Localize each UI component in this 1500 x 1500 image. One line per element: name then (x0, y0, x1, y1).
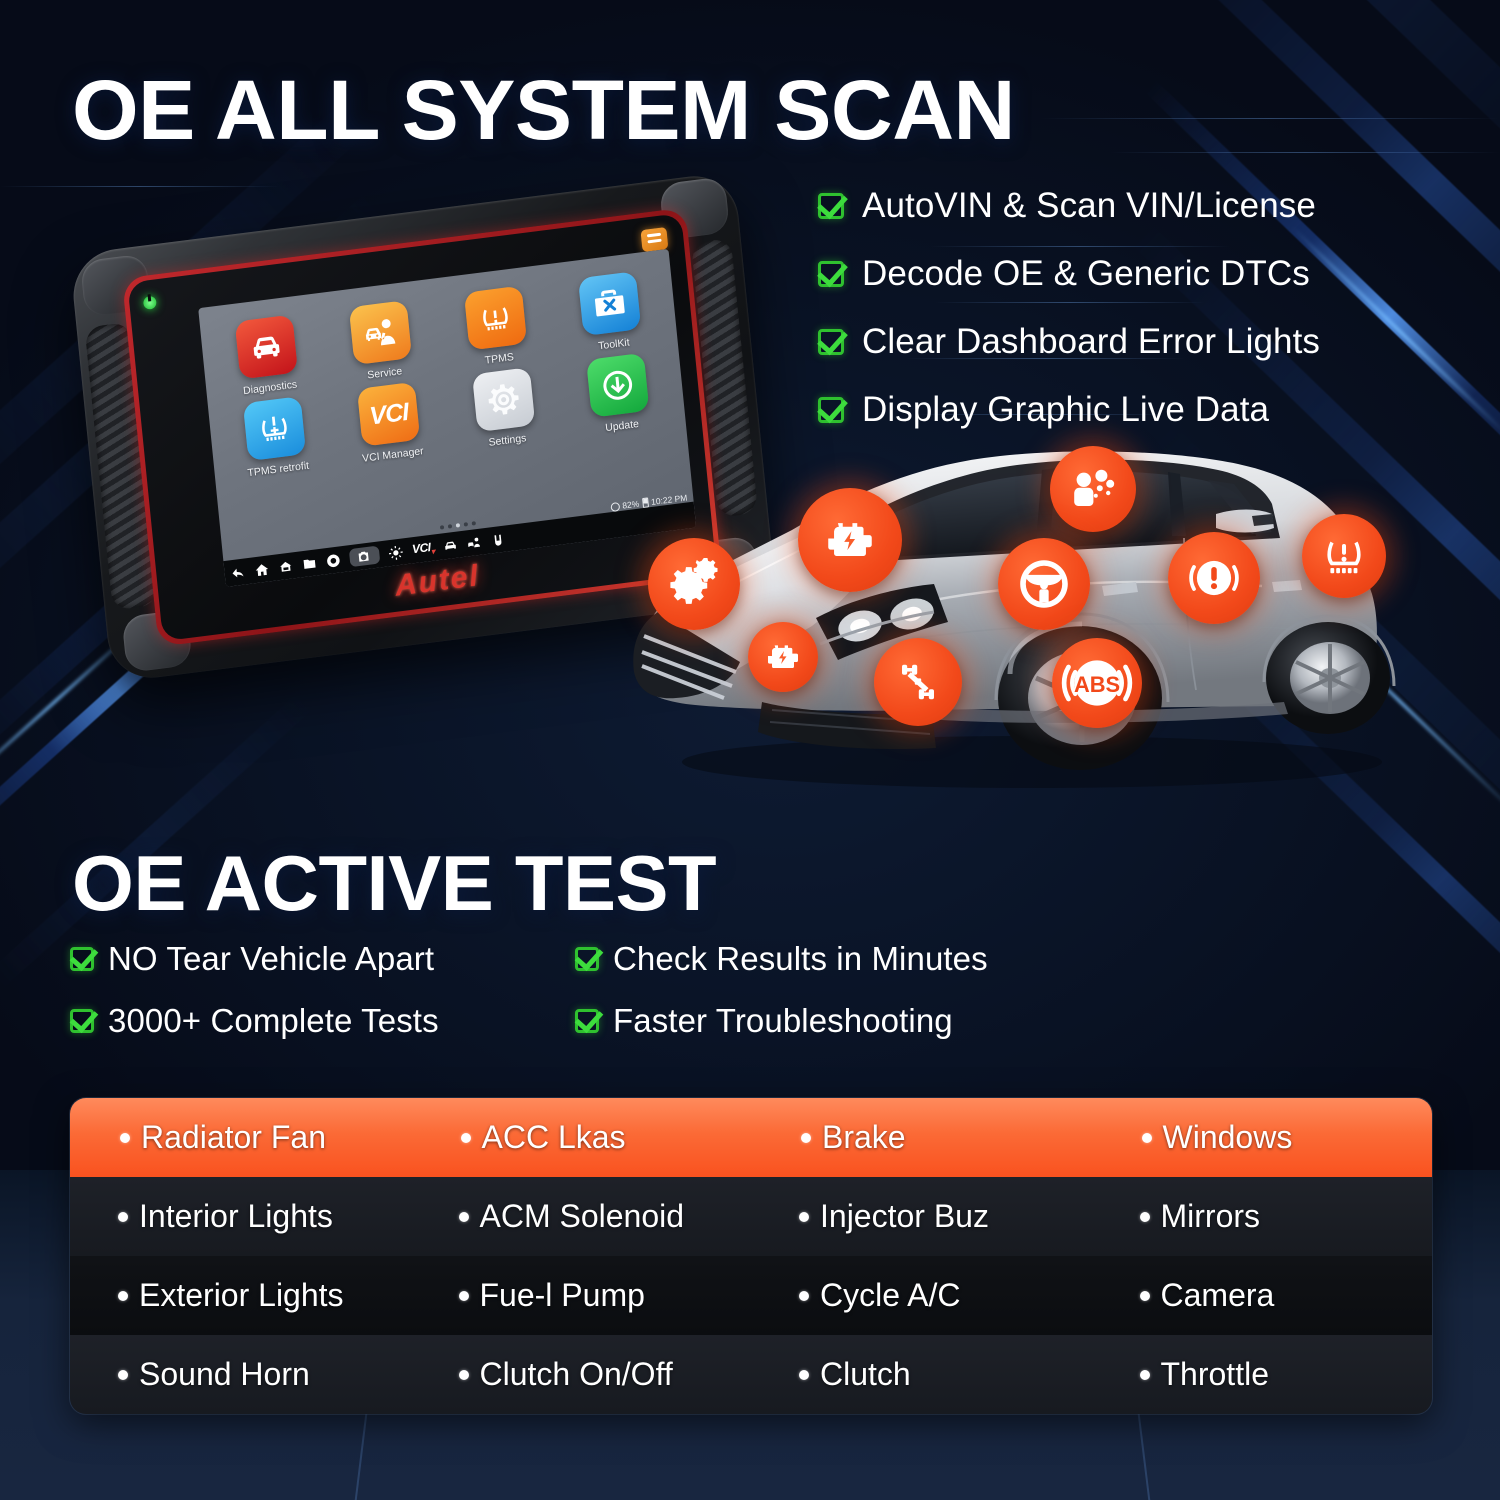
check-icon (70, 947, 94, 971)
tpms-warning-icon[interactable] (1302, 514, 1386, 598)
app-label: Diagnostics (243, 378, 298, 397)
bullet-icon (1142, 1133, 1152, 1143)
table-cell[interactable]: Brake (751, 1119, 1092, 1156)
brightness-icon[interactable] (388, 544, 404, 561)
table-cell[interactable]: Clutch (751, 1356, 1092, 1393)
table-cell[interactable]: Fue-l Pump (411, 1277, 752, 1314)
table-cell-label: ACC Lkas (482, 1119, 626, 1156)
table-cell[interactable]: Sound Horn (70, 1356, 411, 1393)
table-row: Exterior Lights Fue-l Pump Cycle A/C Cam… (70, 1256, 1432, 1335)
svg-text:ABS: ABS (1074, 672, 1120, 697)
engine-check-icon[interactable] (798, 488, 902, 592)
table-cell-label: Sound Horn (139, 1356, 310, 1393)
table-cell[interactable]: Throttle (1092, 1356, 1433, 1393)
table-row: Sound Horn Clutch On/Off Clutch Throttle (70, 1335, 1432, 1414)
page-dot (448, 524, 452, 528)
app-diagnostics[interactable]: Diagnostics (206, 311, 328, 401)
feature-label: Decode OE & Generic DTCs (862, 254, 1310, 294)
tpms-plus-icon (243, 396, 306, 461)
bullet-icon (459, 1291, 469, 1301)
table-cell-label: Windows (1163, 1119, 1293, 1156)
autel-brand-logo: Autel (394, 559, 482, 603)
bullet-icon (118, 1370, 128, 1380)
transmission-gears-icon[interactable] (648, 538, 740, 630)
app-label: TPMS (484, 351, 514, 367)
airbag-srs-icon[interactable] (1050, 446, 1136, 532)
table-cell[interactable]: ACC Lkas (411, 1119, 752, 1156)
table-cell[interactable]: ACM Solenoid (411, 1198, 752, 1235)
feature-item: Faster Troubleshooting (575, 1002, 988, 1040)
vehicle-diagram: ABS (612, 410, 1402, 810)
toolbox-icon (578, 271, 641, 336)
feature-item: 3000+ Complete Tests (70, 1002, 575, 1040)
feature-item: Clear Dashboard Error Lights (818, 322, 1320, 362)
page-title-scan: OE ALL SYSTEM SCAN (72, 62, 1015, 159)
page-title-active-test: OE ACTIVE TEST (72, 838, 716, 929)
service-person-icon (349, 300, 412, 365)
feature-label: Clear Dashboard Error Lights (862, 322, 1320, 362)
table-cell[interactable]: Exterior Lights (70, 1277, 411, 1314)
bullet-icon (1140, 1291, 1150, 1301)
suspension-axle-icon[interactable] (874, 638, 962, 726)
vci-icon[interactable]: VCI▾ (411, 539, 434, 558)
app-grid: Diagnostics Service TPMS (206, 268, 680, 483)
app-tpms[interactable]: TPMS (435, 282, 557, 372)
bg-line (1040, 118, 1500, 119)
bullet-icon (799, 1291, 809, 1301)
bullet-icon (1140, 1370, 1150, 1380)
app-vci-manager[interactable]: VCI VCI Manager (329, 378, 451, 468)
table-cell[interactable]: Cycle A/C (751, 1277, 1092, 1314)
bullet-icon (459, 1212, 469, 1222)
app-label: Service (367, 365, 403, 381)
camera-icon[interactable] (349, 546, 381, 568)
table-cell-label: Brake (822, 1119, 906, 1156)
table-cell-label: Mirrors (1161, 1198, 1261, 1235)
table-cell[interactable]: Windows (1092, 1119, 1433, 1156)
bullet-icon (118, 1212, 128, 1222)
abs-icon[interactable]: ABS (1052, 638, 1142, 728)
bullet-icon (799, 1370, 809, 1380)
table-cell-label: Clutch On/Off (480, 1356, 673, 1393)
bullet-icon (461, 1133, 471, 1143)
power-icon[interactable] (490, 531, 506, 548)
table-cell-label: Injector Buz (820, 1198, 989, 1235)
steering-wheel-icon[interactable] (998, 538, 1090, 630)
check-icon (575, 947, 599, 971)
table-cell[interactable]: Interior Lights (70, 1198, 411, 1235)
feature-label: Faster Troubleshooting (613, 1002, 953, 1040)
feature-label: NO Tear Vehicle Apart (108, 940, 434, 978)
bullet-icon (801, 1133, 811, 1143)
screenshot-icon[interactable] (278, 558, 294, 575)
bg-line (0, 186, 280, 187)
bullet-icon (120, 1133, 130, 1143)
gear-icon (472, 367, 535, 432)
table-cell[interactable]: Mirrors (1092, 1198, 1433, 1235)
bullet-icon (1140, 1212, 1150, 1222)
table-cell-label: Camera (1161, 1277, 1275, 1314)
table-cell-label: Exterior Lights (139, 1277, 344, 1314)
vehicle-icon[interactable] (442, 537, 458, 554)
car-icon (234, 315, 297, 380)
tpms-icon (464, 286, 527, 351)
table-cell-label: Fue-l Pump (480, 1277, 645, 1314)
table-cell[interactable]: Injector Buz (751, 1198, 1092, 1235)
active-test-table: Radiator Fan ACC Lkas Brake Windows Inte… (70, 1098, 1432, 1414)
app-service[interactable]: Service (320, 296, 442, 386)
brake-warning-icon[interactable] (1168, 532, 1260, 624)
app-toolkit[interactable]: ToolKit (550, 268, 672, 358)
active-test-feature-list: NO Tear Vehicle Apart Check Results in M… (70, 940, 988, 1040)
chrome-icon[interactable] (325, 552, 341, 569)
app-tpms-retrofit[interactable]: TPMS retrofit (214, 393, 336, 483)
app-label: Settings (488, 432, 527, 449)
home-icon[interactable] (254, 561, 270, 578)
bullet-icon (118, 1291, 128, 1301)
table-row-header: Radiator Fan ACC Lkas Brake Windows (70, 1098, 1432, 1177)
table-cell-label: Radiator Fan (141, 1119, 326, 1156)
bullet-icon (459, 1370, 469, 1380)
bg-line (1110, 152, 1500, 153)
feature-item: AutoVIN & Scan VIN/License (818, 186, 1320, 226)
feature-label: AutoVIN & Scan VIN/License (862, 186, 1316, 226)
page-dot-active (456, 523, 460, 527)
feature-label: Check Results in Minutes (613, 940, 988, 978)
table-cell-label: Clutch (820, 1356, 911, 1393)
table-cell-label: Cycle A/C (820, 1277, 960, 1314)
check-icon (818, 329, 844, 355)
bullet-icon (799, 1212, 809, 1222)
feature-item: NO Tear Vehicle Apart (70, 940, 575, 978)
app-label: ToolKit (598, 336, 630, 352)
feature-item: Check Results in Minutes (575, 940, 988, 978)
feature-item: Decode OE & Generic DTCs (818, 254, 1320, 294)
check-icon (818, 193, 844, 219)
app-settings[interactable]: Settings (443, 364, 565, 454)
app-label: VCI Manager (362, 445, 425, 465)
check-icon (70, 1009, 94, 1033)
table-cell[interactable]: Clutch On/Off (411, 1356, 752, 1393)
feature-label: 3000+ Complete Tests (108, 1002, 439, 1040)
app-label: TPMS retrofit (247, 460, 310, 480)
folder-icon[interactable] (301, 555, 317, 572)
page-dot (464, 522, 468, 526)
table-cell-label: Throttle (1161, 1356, 1269, 1393)
check-icon (575, 1009, 599, 1033)
back-arrow-icon[interactable] (230, 564, 246, 581)
vci-text-icon: VCI (357, 382, 420, 447)
table-cell[interactable]: Camera (1092, 1277, 1433, 1314)
check-icon (818, 261, 844, 287)
table-cell-label: Interior Lights (139, 1198, 333, 1235)
service-icon[interactable] (466, 534, 482, 551)
scan-feature-list: AutoVIN & Scan VIN/License Decode OE & G… (818, 186, 1320, 430)
table-cell[interactable]: Radiator Fan (70, 1119, 411, 1156)
page-dot (440, 525, 444, 529)
page-indicator-dots (440, 521, 476, 529)
download-icon (586, 353, 649, 418)
power-led-icon (143, 295, 157, 310)
table-row: Interior Lights ACM Solenoid Injector Bu… (70, 1177, 1432, 1256)
page-dot (472, 521, 476, 525)
table-cell-label: ACM Solenoid (480, 1198, 685, 1235)
engine-small-icon[interactable] (748, 622, 818, 692)
